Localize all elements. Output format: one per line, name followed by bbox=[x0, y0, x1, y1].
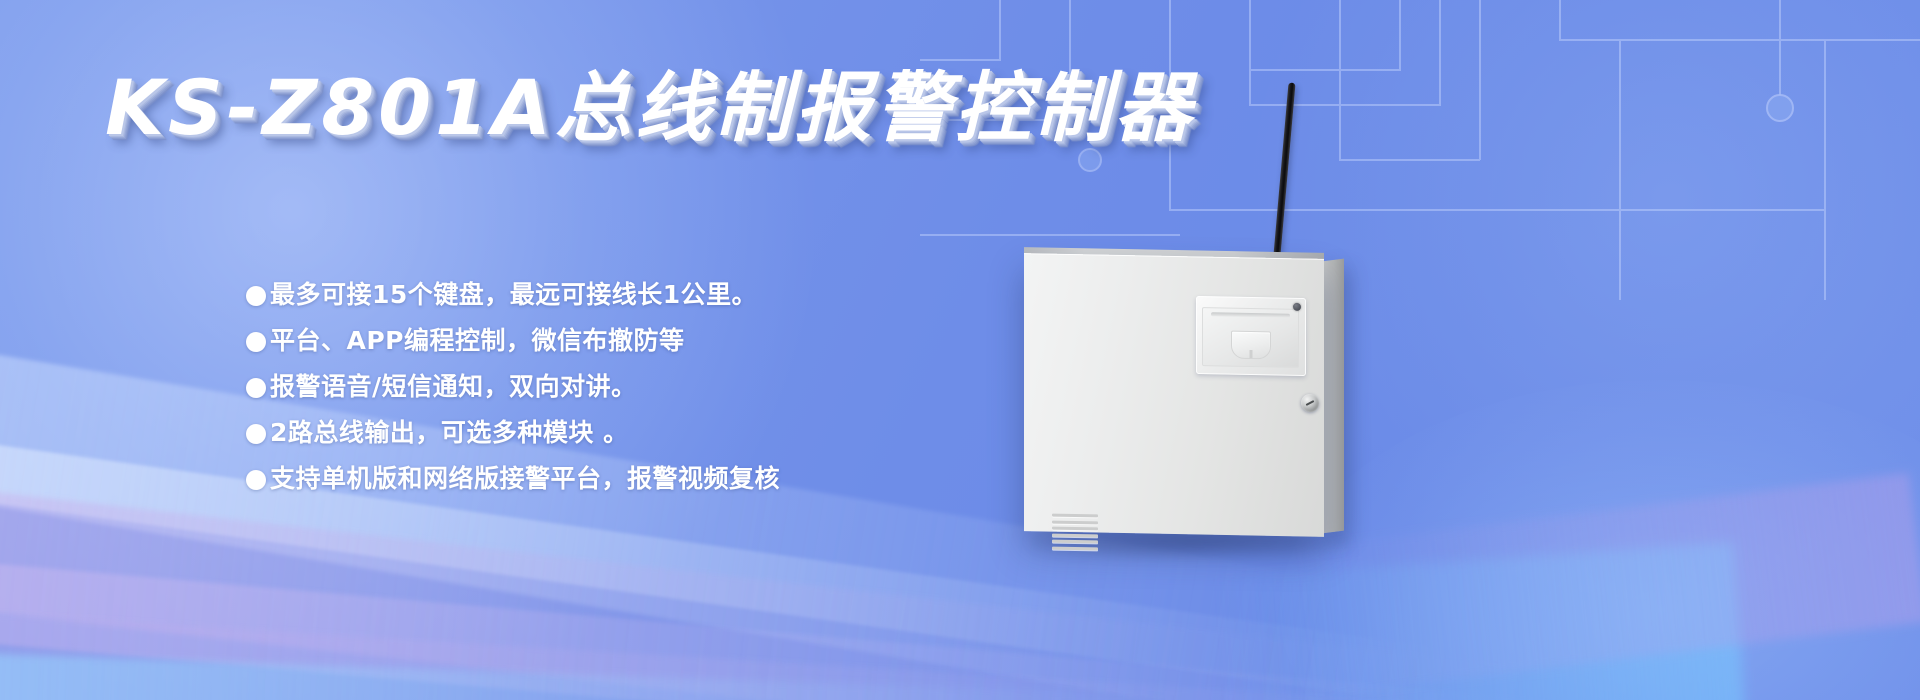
list-item: 2路总线输出，可选多种模块 。 bbox=[246, 420, 986, 445]
light-band-cyan bbox=[0, 650, 1179, 700]
ventilation-slots bbox=[1052, 514, 1098, 551]
door-handle-notch bbox=[1249, 350, 1252, 358]
vent-slot bbox=[1052, 514, 1098, 518]
feature-text: 平台、APP编程控制，微信布撤防等 bbox=[270, 328, 685, 353]
list-item: 平台、APP编程控制，微信布撤防等 bbox=[246, 328, 986, 353]
vent-slot bbox=[1052, 520, 1098, 524]
antenna-icon bbox=[1272, 82, 1296, 272]
bullet-dot-icon bbox=[246, 286, 266, 306]
bullet-dot-icon bbox=[246, 378, 266, 398]
list-item: 报警语音/短信通知，双向对讲。 bbox=[246, 374, 986, 399]
feature-text: 2路总线输出，可选多种模块 。 bbox=[270, 420, 629, 445]
vent-slot bbox=[1052, 527, 1098, 531]
keypad-window-slot bbox=[1211, 312, 1290, 318]
feature-text: 支持单机版和网络版接警平台，报警视频复核 bbox=[270, 466, 780, 491]
keypad-window bbox=[1196, 296, 1306, 376]
door-handle-icon bbox=[1231, 331, 1271, 360]
feature-text: 最多可接15个键盘，最远可接线长1公里。 bbox=[270, 282, 757, 307]
enclosure-front-face bbox=[1024, 253, 1324, 537]
feature-list: 最多可接15个键盘，最远可接线长1公里。 平台、APP编程控制，微信布撤防等 报… bbox=[246, 282, 986, 512]
bullet-dot-icon bbox=[246, 332, 266, 352]
vent-slot bbox=[1052, 533, 1098, 537]
list-item: 最多可接15个键盘，最远可接线长1公里。 bbox=[246, 282, 986, 307]
vent-slot bbox=[1052, 540, 1098, 544]
product-image-alarm-control-panel bbox=[1000, 70, 1420, 630]
keypad-window-inner bbox=[1202, 307, 1299, 368]
feature-text: 报警语音/短信通知，双向对讲。 bbox=[270, 374, 637, 399]
bullet-dot-icon bbox=[246, 470, 266, 490]
list-item: 支持单机版和网络版接警平台，报警视频复核 bbox=[246, 466, 986, 491]
bullet-dot-icon bbox=[246, 424, 266, 444]
status-led-icon bbox=[1293, 303, 1301, 311]
key-lock-icon bbox=[1301, 394, 1319, 412]
product-promo-banner: KS-Z801A总线制报警控制器 最多可接15个键盘，最远可接线长1公里。 平台… bbox=[0, 0, 1920, 700]
enclosure-side-face bbox=[1322, 259, 1344, 534]
